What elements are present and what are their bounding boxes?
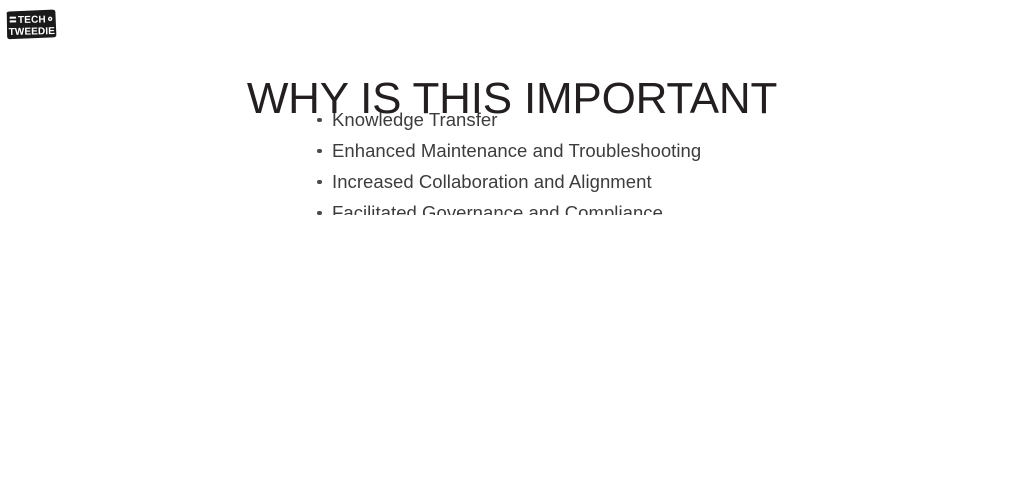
bullet-point-icon	[317, 149, 322, 154]
list-item-label: Enhanced Maintenance and Troubleshooting	[332, 138, 701, 163]
tech-tweedie-logo[interactable]: TECH TWEEDIE	[3, 7, 60, 41]
list-item-label: Increased Collaboration and Alignment	[332, 169, 652, 194]
list-item: Enhanced Maintenance and Troubleshooting	[313, 138, 953, 163]
list-item: Increased Collaboration and Alignment	[313, 169, 953, 194]
svg-text:TECH: TECH	[18, 14, 46, 26]
list-item-label: Knowledge Transfer	[332, 107, 497, 132]
slide-content-area	[0, 215, 1024, 485]
list-item: Knowledge Transfer	[313, 107, 953, 132]
bullet-point-icon	[317, 118, 322, 123]
bullet-point-icon	[317, 180, 322, 185]
presentation-slide: TECH TWEEDIE WHY IS THIS IMPORTANT Knowl…	[0, 0, 1024, 485]
svg-text:TWEEDIE: TWEEDIE	[9, 26, 56, 38]
bullet-list: Knowledge Transfer Enhanced Maintenance …	[313, 107, 953, 225]
